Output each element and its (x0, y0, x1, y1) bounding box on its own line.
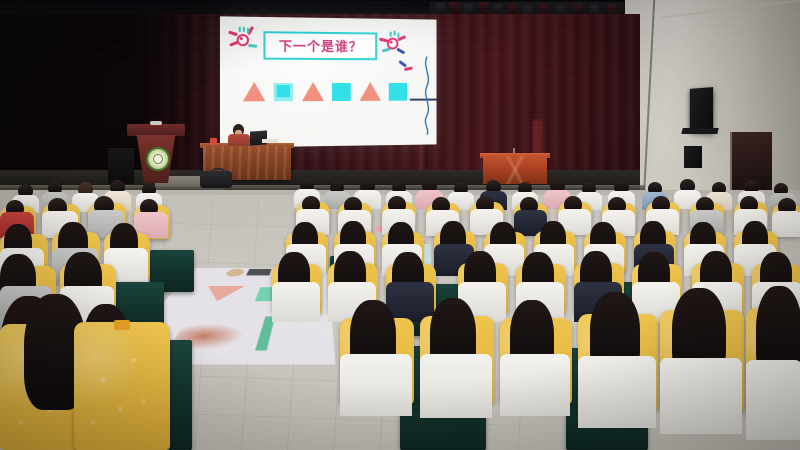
wavy-border-icon (421, 57, 432, 135)
desk-object (210, 138, 217, 145)
seated-attendee (772, 211, 800, 237)
podium-top (127, 124, 185, 136)
lecture-hall-scene: 下一个是谁？ (0, 0, 800, 450)
projection-screen: 下一个是谁？ (220, 16, 437, 147)
laptop-icon (250, 130, 267, 145)
pattern-triangle (302, 82, 324, 101)
shape-pattern-row (237, 80, 426, 105)
seated-attendee (272, 282, 320, 322)
starburst-clipart-icon (379, 31, 410, 57)
audience (0, 178, 800, 450)
seated-attendee (420, 354, 492, 418)
pattern-triangle (360, 82, 381, 101)
desk-papers (262, 139, 278, 143)
speaker-shelf (681, 128, 718, 134)
seated-attendee (340, 354, 412, 416)
presenter (228, 134, 250, 146)
seated-attendee (578, 356, 656, 428)
seated-attendee (660, 358, 742, 434)
podium-emblem-icon (146, 147, 170, 171)
audience-chair[interactable] (74, 322, 170, 450)
starburst-clipart-icon (228, 27, 259, 52)
speaker-icon (690, 87, 713, 133)
seated-attendee (500, 354, 570, 416)
podium-microphone-icon (150, 121, 162, 125)
starburst-clipart-icon (396, 58, 415, 74)
pattern-square (389, 83, 407, 101)
speaker-icon (684, 146, 702, 168)
pattern-square (332, 83, 351, 101)
projection-screen-surface: 下一个是谁？ (220, 16, 437, 147)
pattern-triangle (243, 82, 266, 101)
pattern-square-inner (277, 85, 290, 97)
slide-title-box: 下一个是谁？ (263, 31, 377, 60)
seated-attendee (746, 360, 800, 440)
phone-icon[interactable] (114, 320, 130, 330)
slide-title: 下一个是谁？ (265, 35, 375, 55)
